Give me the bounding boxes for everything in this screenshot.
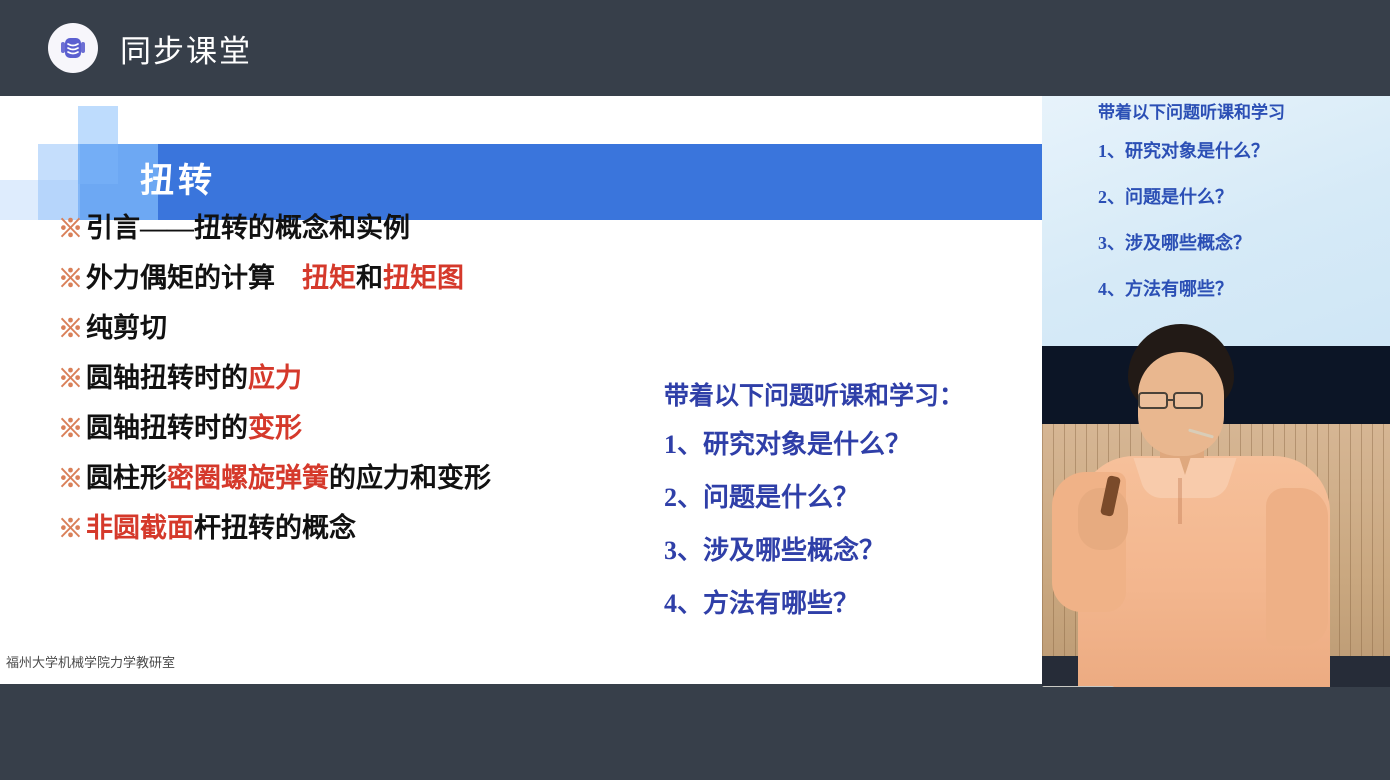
presenter-video[interactable]: 带着以下问题听课和学习 1、研究对象是什么？ 2、问题是什么？ 3、涉及哪些概念… <box>1042 96 1390 687</box>
presenter-right-arm <box>1266 488 1328 646</box>
app-root: 同步课堂 扭转 ※引言——扭转的概念和实例※外力偶矩的计算 扭矩和扭矩图※纯剪切… <box>0 0 1390 780</box>
bullet-marker-icon: ※ <box>58 409 83 445</box>
bullet-item: ※圆柱形密圈螺旋弹簧的应力和变形 <box>58 456 678 506</box>
bullet-text-highlight: 扭矩图 <box>383 256 464 295</box>
bullet-text-highlight: 应力 <box>248 356 302 395</box>
question-item: 2、问题是什么？ <box>664 485 964 511</box>
bullet-marker-icon: ※ <box>58 359 83 395</box>
projected-screen: 带着以下问题听课和学习 1、研究对象是什么？ 2、问题是什么？ 3、涉及哪些概念… <box>1042 96 1390 351</box>
bullet-text-highlight: 扭矩 <box>302 256 356 295</box>
bullet-marker-icon: ※ <box>58 209 83 245</box>
bullet-item: ※纯剪切 <box>58 306 678 356</box>
bullet-item: ※非圆截面杆扭转的概念 <box>58 506 678 556</box>
projected-item: 2、问题是什么？ <box>1098 188 1285 206</box>
presenter-placket <box>1178 478 1182 524</box>
bullet-item: ※圆轴扭转时的应力 <box>58 356 678 406</box>
bullet-item: ※外力偶矩的计算 扭矩和扭矩图 <box>58 256 678 306</box>
presentation-slide: 扭转 ※引言——扭转的概念和实例※外力偶矩的计算 扭矩和扭矩图※纯剪切※圆轴扭转… <box>0 96 1042 684</box>
slide-question-block: 带着以下问题听课和学习： 1、研究对象是什么？ 2、问题是什么？ 3、涉及哪些概… <box>664 384 964 644</box>
question-item: 4、方法有哪些？ <box>664 591 964 617</box>
projected-screen-text: 带着以下问题听课和学习 1、研究对象是什么？ 2、问题是什么？ 3、涉及哪些概念… <box>1098 104 1285 326</box>
bullet-text: 杆扭转的概念 <box>194 506 356 545</box>
glasses-right-lens-icon <box>1173 392 1203 409</box>
slide-footer: 福州大学机械学院力学教研室 <box>6 652 175 671</box>
bullet-text-highlight: 密圈螺旋弹簧 <box>167 456 329 495</box>
projected-item: 4、方法有哪些？ <box>1098 280 1285 298</box>
app-header: 同步课堂 <box>0 0 1390 96</box>
bullet-text: 外力偶矩的计算 <box>86 256 302 295</box>
bullet-marker-icon: ※ <box>58 459 83 495</box>
bullet-text: 和 <box>356 256 383 295</box>
bullet-text: 的应力和变形 <box>329 456 491 495</box>
glasses-left-lens-icon <box>1138 392 1168 409</box>
bullet-marker-icon: ※ <box>58 309 83 345</box>
projected-item: 1、研究对象是什么？ <box>1098 142 1285 160</box>
slide-title: 扭转 <box>140 140 216 224</box>
projected-heading: 带着以下问题听课和学习 <box>1098 104 1285 121</box>
bottom-bar <box>0 687 1390 780</box>
question-heading: 带着以下问题听课和学习： <box>664 384 964 409</box>
app-title: 同步课堂 <box>120 26 252 71</box>
bullet-text: 纯剪切 <box>86 306 167 345</box>
question-item: 1、研究对象是什么？ <box>664 432 964 458</box>
bullet-text-highlight: 非圆截面 <box>86 506 194 545</box>
bullet-text: 圆轴扭转时的 <box>86 356 248 395</box>
bullet-text-highlight: 变形 <box>248 406 302 445</box>
bullet-marker-icon: ※ <box>58 509 83 545</box>
glasses-bridge-icon <box>1168 399 1175 401</box>
bullet-marker-icon: ※ <box>58 259 83 295</box>
bullet-item: ※圆轴扭转时的变形 <box>58 406 678 456</box>
question-item: 3、涉及哪些概念？ <box>664 538 964 564</box>
slide-bullet-list: ※引言——扭转的概念和实例※外力偶矩的计算 扭矩和扭矩图※纯剪切※圆轴扭转时的应… <box>58 206 678 556</box>
bullet-text: 圆轴扭转时的 <box>86 406 248 445</box>
projected-item: 3、涉及哪些概念？ <box>1098 234 1285 252</box>
bullet-text: 圆柱形 <box>86 456 167 495</box>
bullet-text: 引言——扭转的概念和实例 <box>86 206 410 245</box>
classroom-logo-icon <box>48 23 98 73</box>
